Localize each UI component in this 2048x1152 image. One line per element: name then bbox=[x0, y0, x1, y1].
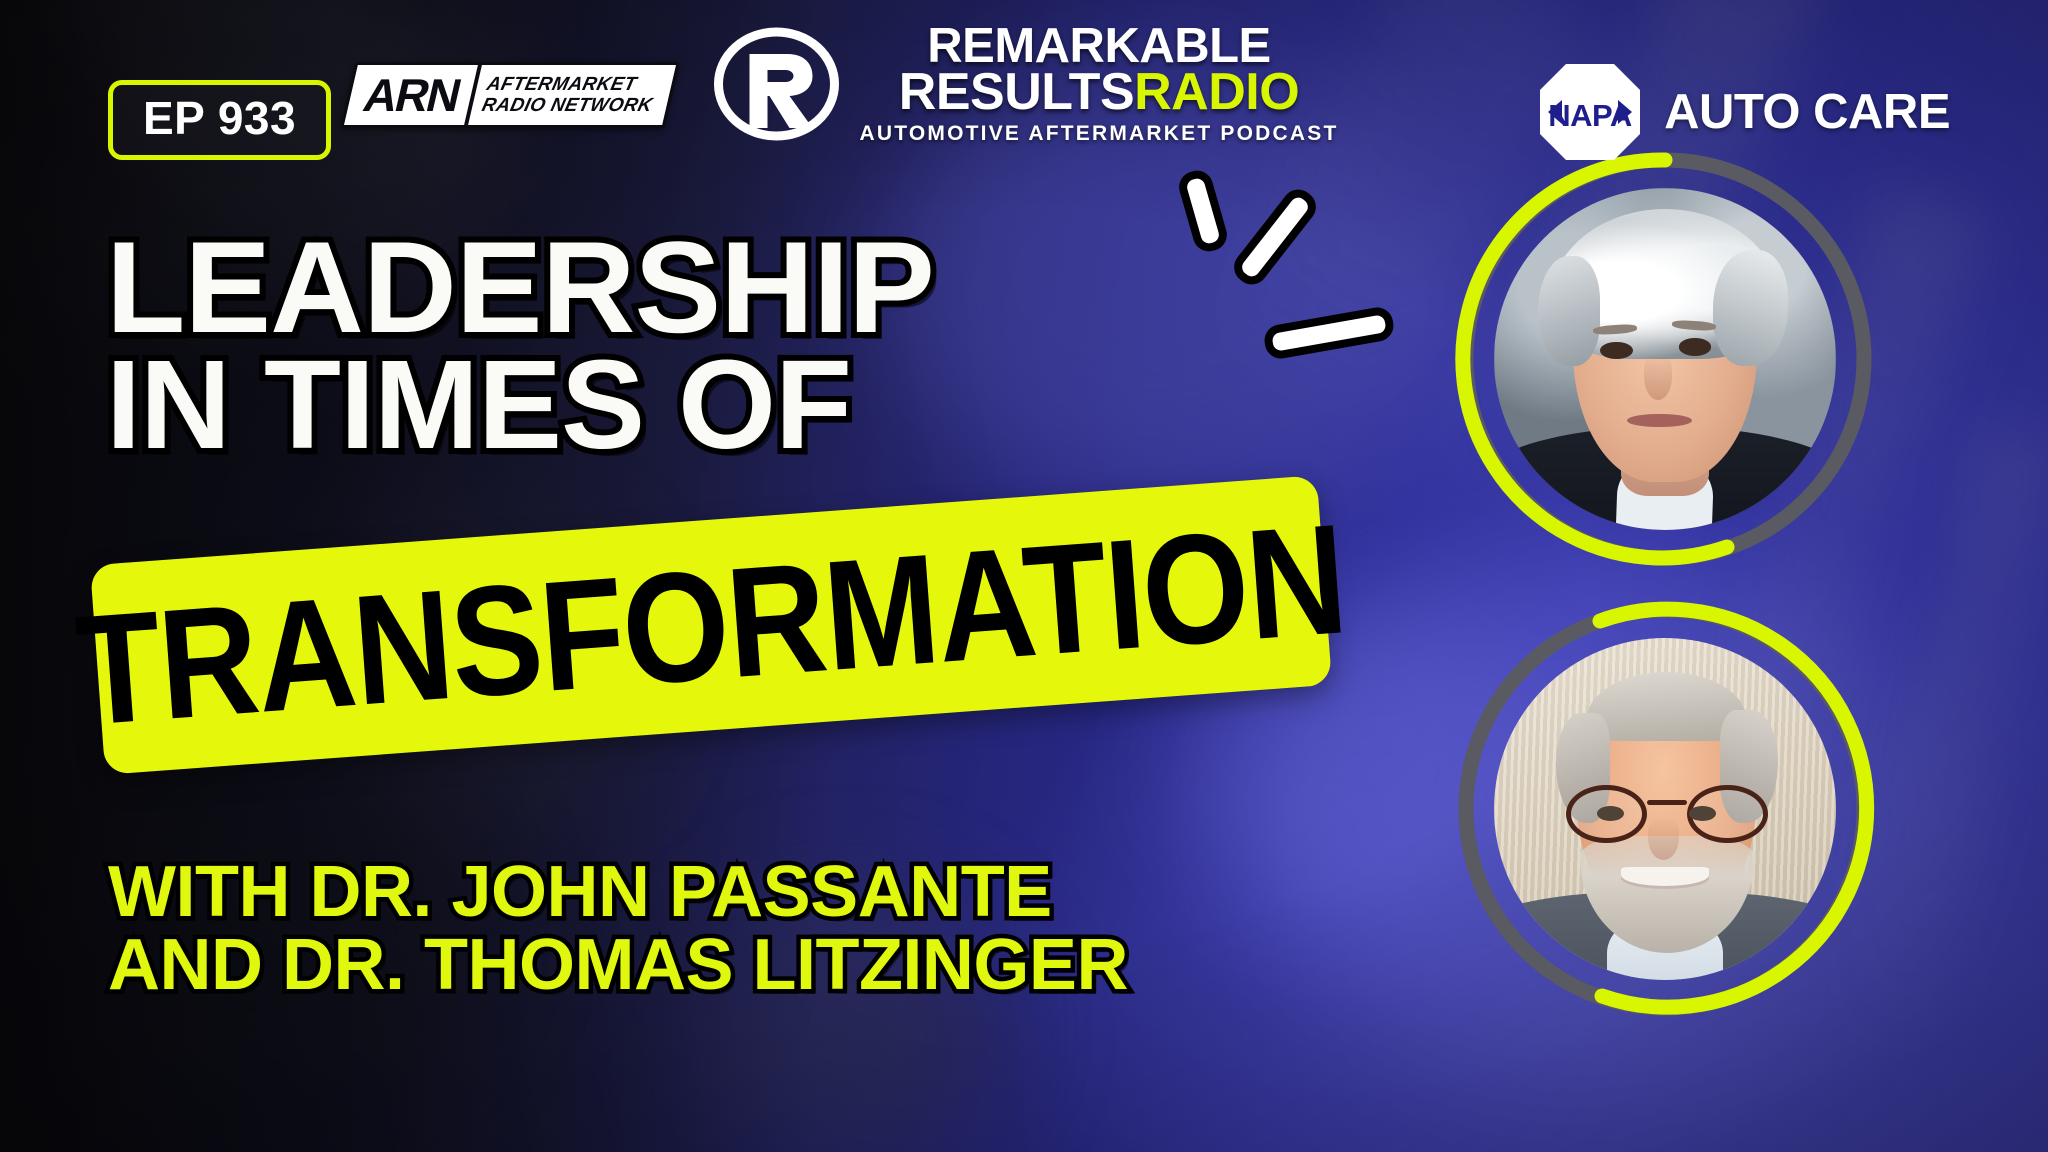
guest-photo-1 bbox=[1442, 136, 1888, 582]
host-credits: WITH DR. JOHN PASSANTE AND DR. THOMAS LI… bbox=[108, 856, 1128, 1003]
show-name-line2: RESULTSRADIO bbox=[899, 69, 1299, 117]
header-bar: EP 933 ARN AFTERMARKET RADIO NETWORK REM… bbox=[0, 0, 2048, 180]
show-wordmark: REMARKABLE RESULTSRADIO AUTOMOTIVE AFTER… bbox=[860, 24, 1339, 143]
sponsor-logo: NAPA AUTO CARE bbox=[1536, 60, 1950, 164]
show-name-results: RESULTS bbox=[899, 63, 1134, 121]
svg-text:NAPA: NAPA bbox=[1548, 98, 1632, 133]
podcast-cover-art: EP 933 ARN AFTERMARKET RADIO NETWORK REM… bbox=[0, 0, 2048, 1152]
show-logo: REMARKABLE RESULTSRADIO AUTOMOTIVE AFTER… bbox=[710, 24, 1339, 144]
guest-photo-2 bbox=[1442, 586, 1888, 1032]
napa-hexagon-icon: NAPA bbox=[1536, 60, 1644, 164]
guest-photo-1-image bbox=[1494, 188, 1836, 530]
arn-logo-mark: ARN bbox=[344, 65, 478, 125]
show-name-radio: RADIO bbox=[1134, 63, 1299, 121]
host-line-2: AND DR. THOMAS LITZINGER bbox=[108, 929, 1128, 1002]
show-tagline: AUTOMOTIVE AFTERMARKET PODCAST bbox=[860, 124, 1339, 143]
arn-wordmark-line1: AFTERMARKET bbox=[485, 74, 660, 95]
host-line-1: WITH DR. JOHN PASSANTE bbox=[108, 856, 1128, 929]
episode-title: LEADERSHIP IN TIMES OF bbox=[106, 230, 934, 461]
arn-network-logo: ARN AFTERMARKET RADIO NETWORK bbox=[340, 62, 679, 128]
title-line-2: IN TIMES OF bbox=[106, 350, 934, 461]
guest-photo-2-image bbox=[1494, 638, 1836, 980]
remarkable-results-r-icon bbox=[710, 24, 844, 144]
arn-logo-wordmark: AFTERMARKET RADIO NETWORK bbox=[468, 65, 676, 125]
sponsor-name: AUTO CARE bbox=[1664, 84, 1950, 140]
title-line-1: LEADERSHIP bbox=[106, 230, 934, 344]
episode-number-badge: EP 933 bbox=[108, 80, 331, 160]
arn-wordmark-line2: RADIO NETWORK bbox=[480, 95, 655, 116]
